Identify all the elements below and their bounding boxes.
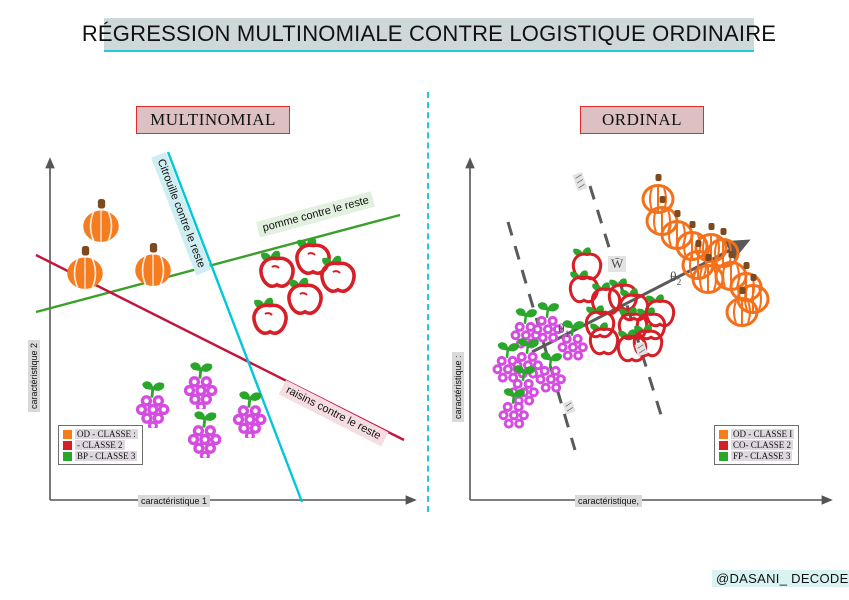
y-axis-label-ordinal: caractéristique :	[452, 352, 464, 422]
legend-label-class1: OD - CLASSE I	[731, 429, 794, 439]
points-class1-pumpkin	[643, 174, 768, 326]
legend-swatch-class1	[63, 430, 72, 439]
legend-row: CO- CLASSE 2	[719, 440, 794, 450]
legend-swatch-class3	[63, 452, 72, 461]
w-vector-annotation: W̄	[608, 256, 626, 272]
theta-1-subscript: 1	[565, 329, 570, 339]
legend-label-class1: OD - CLASSE :	[75, 429, 138, 439]
section-header-multinomial: MULTINOMIAL	[136, 106, 290, 134]
ordinal-panel: θ1 θ2 W̄ \ \ \ \ \ \ \ caractéristique, …	[440, 150, 835, 510]
points-class2-apple	[254, 238, 354, 333]
legend-swatch-class3	[719, 452, 728, 461]
poster-canvas: RÉGRESSION MULTINOMIALE CONTRE LOGISTIQU…	[0, 0, 849, 600]
legend-swatch-class2	[63, 441, 72, 450]
x-axis-label-multinomial: caractéristique 1	[138, 495, 210, 507]
legend-multinomial[interactable]: OD - CLASSE : - CLASSE 2 BP - CLASSE 3	[58, 425, 143, 465]
theta-2-subscript: 2	[677, 277, 682, 287]
x-axis-label-ordinal: caractéristique,	[575, 495, 642, 507]
section-header-ordinal: ORDINAL	[580, 106, 704, 134]
y-axis-label-multinomial: caractéristique 2	[28, 340, 40, 412]
theta-1-symbol: θ	[558, 322, 565, 337]
panel-divider	[427, 92, 429, 512]
legend-row: BP - CLASSE 3	[63, 451, 138, 461]
legend-row: OD - CLASSE I	[719, 429, 794, 439]
legend-row: - CLASSE 2	[63, 440, 138, 450]
legend-label-class2: CO- CLASSE 2	[731, 440, 793, 450]
multinomial-panel: Citrouille contre le reste pomme contre …	[20, 150, 420, 510]
legend-ordinal[interactable]: OD - CLASSE I CO- CLASSE 2 FP - CLASSE 3	[714, 425, 799, 465]
theta-1-annotation: θ1	[558, 322, 569, 339]
theta-2-annotation: θ2	[670, 270, 681, 287]
legend-row: OD - CLASSE :	[63, 429, 138, 439]
watermark: @DASANI_ DECODED	[712, 570, 849, 587]
points-class3-grape	[136, 362, 267, 461]
legend-label-class3: BP - CLASSE 3	[75, 451, 137, 461]
legend-swatch-class1	[719, 430, 728, 439]
theta-2-symbol: θ	[670, 270, 677, 285]
legend-swatch-class2	[719, 441, 728, 450]
legend-label-class3: FP - CLASSE 3	[731, 451, 792, 461]
points-class1-pumpkin	[67, 199, 171, 289]
legend-label-class2: - CLASSE 2	[75, 440, 125, 450]
legend-row: FP - CLASSE 3	[719, 451, 794, 461]
page-title: RÉGRESSION MULTINOMIALE CONTRE LOGISTIQU…	[104, 18, 754, 52]
